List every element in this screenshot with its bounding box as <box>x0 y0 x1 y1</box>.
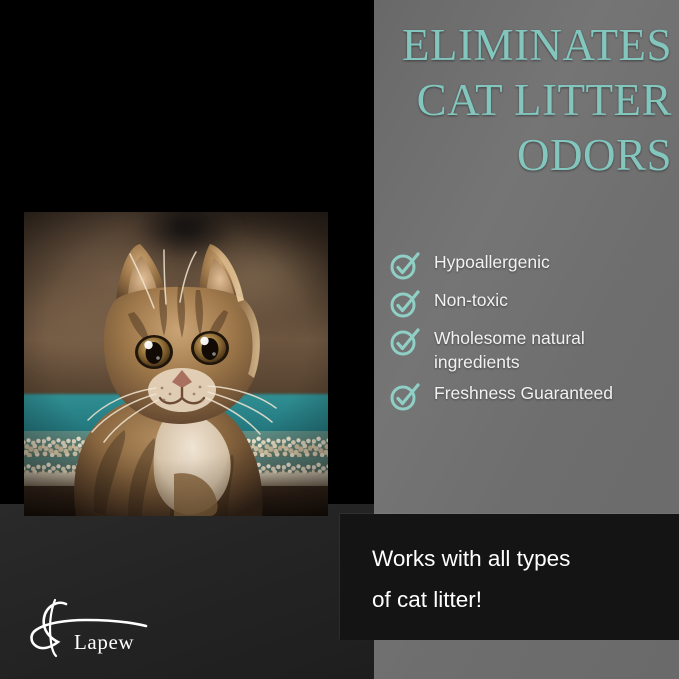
product-infographic: ELIMINATES CAT LITTER ODORS <box>0 0 679 679</box>
brand-name: Lapew <box>74 630 134 655</box>
list-item: Freshness Guaranteed <box>390 381 675 412</box>
list-item-label: Freshness Guaranteed <box>434 381 613 405</box>
list-item: Hypoallergenic <box>390 250 675 281</box>
list-item-label: Wholesome natural ingredients <box>434 326 662 374</box>
check-circle-icon <box>390 327 420 357</box>
check-circle-icon <box>390 382 420 412</box>
tagline-text: Works with all types of cat litter! <box>372 538 662 620</box>
list-item-label: Non-toxic <box>434 288 508 312</box>
page-title: ELIMINATES CAT LITTER ODORS <box>300 18 672 183</box>
photo-scene <box>24 212 328 516</box>
brand-logo: Lapew <box>22 592 182 662</box>
tagline-card: Works with all types of cat litter! <box>340 514 679 640</box>
list-item: Wholesome natural ingredients <box>390 326 675 374</box>
product-photo <box>24 212 328 516</box>
list-item-label: Hypoallergenic <box>434 250 550 274</box>
photo-vignette <box>24 212 328 516</box>
list-item: Non-toxic <box>390 288 675 319</box>
check-circle-icon <box>390 251 420 281</box>
benefits-list: Hypoallergenic Non-toxic Wholesome natur… <box>390 250 675 419</box>
check-circle-icon <box>390 289 420 319</box>
